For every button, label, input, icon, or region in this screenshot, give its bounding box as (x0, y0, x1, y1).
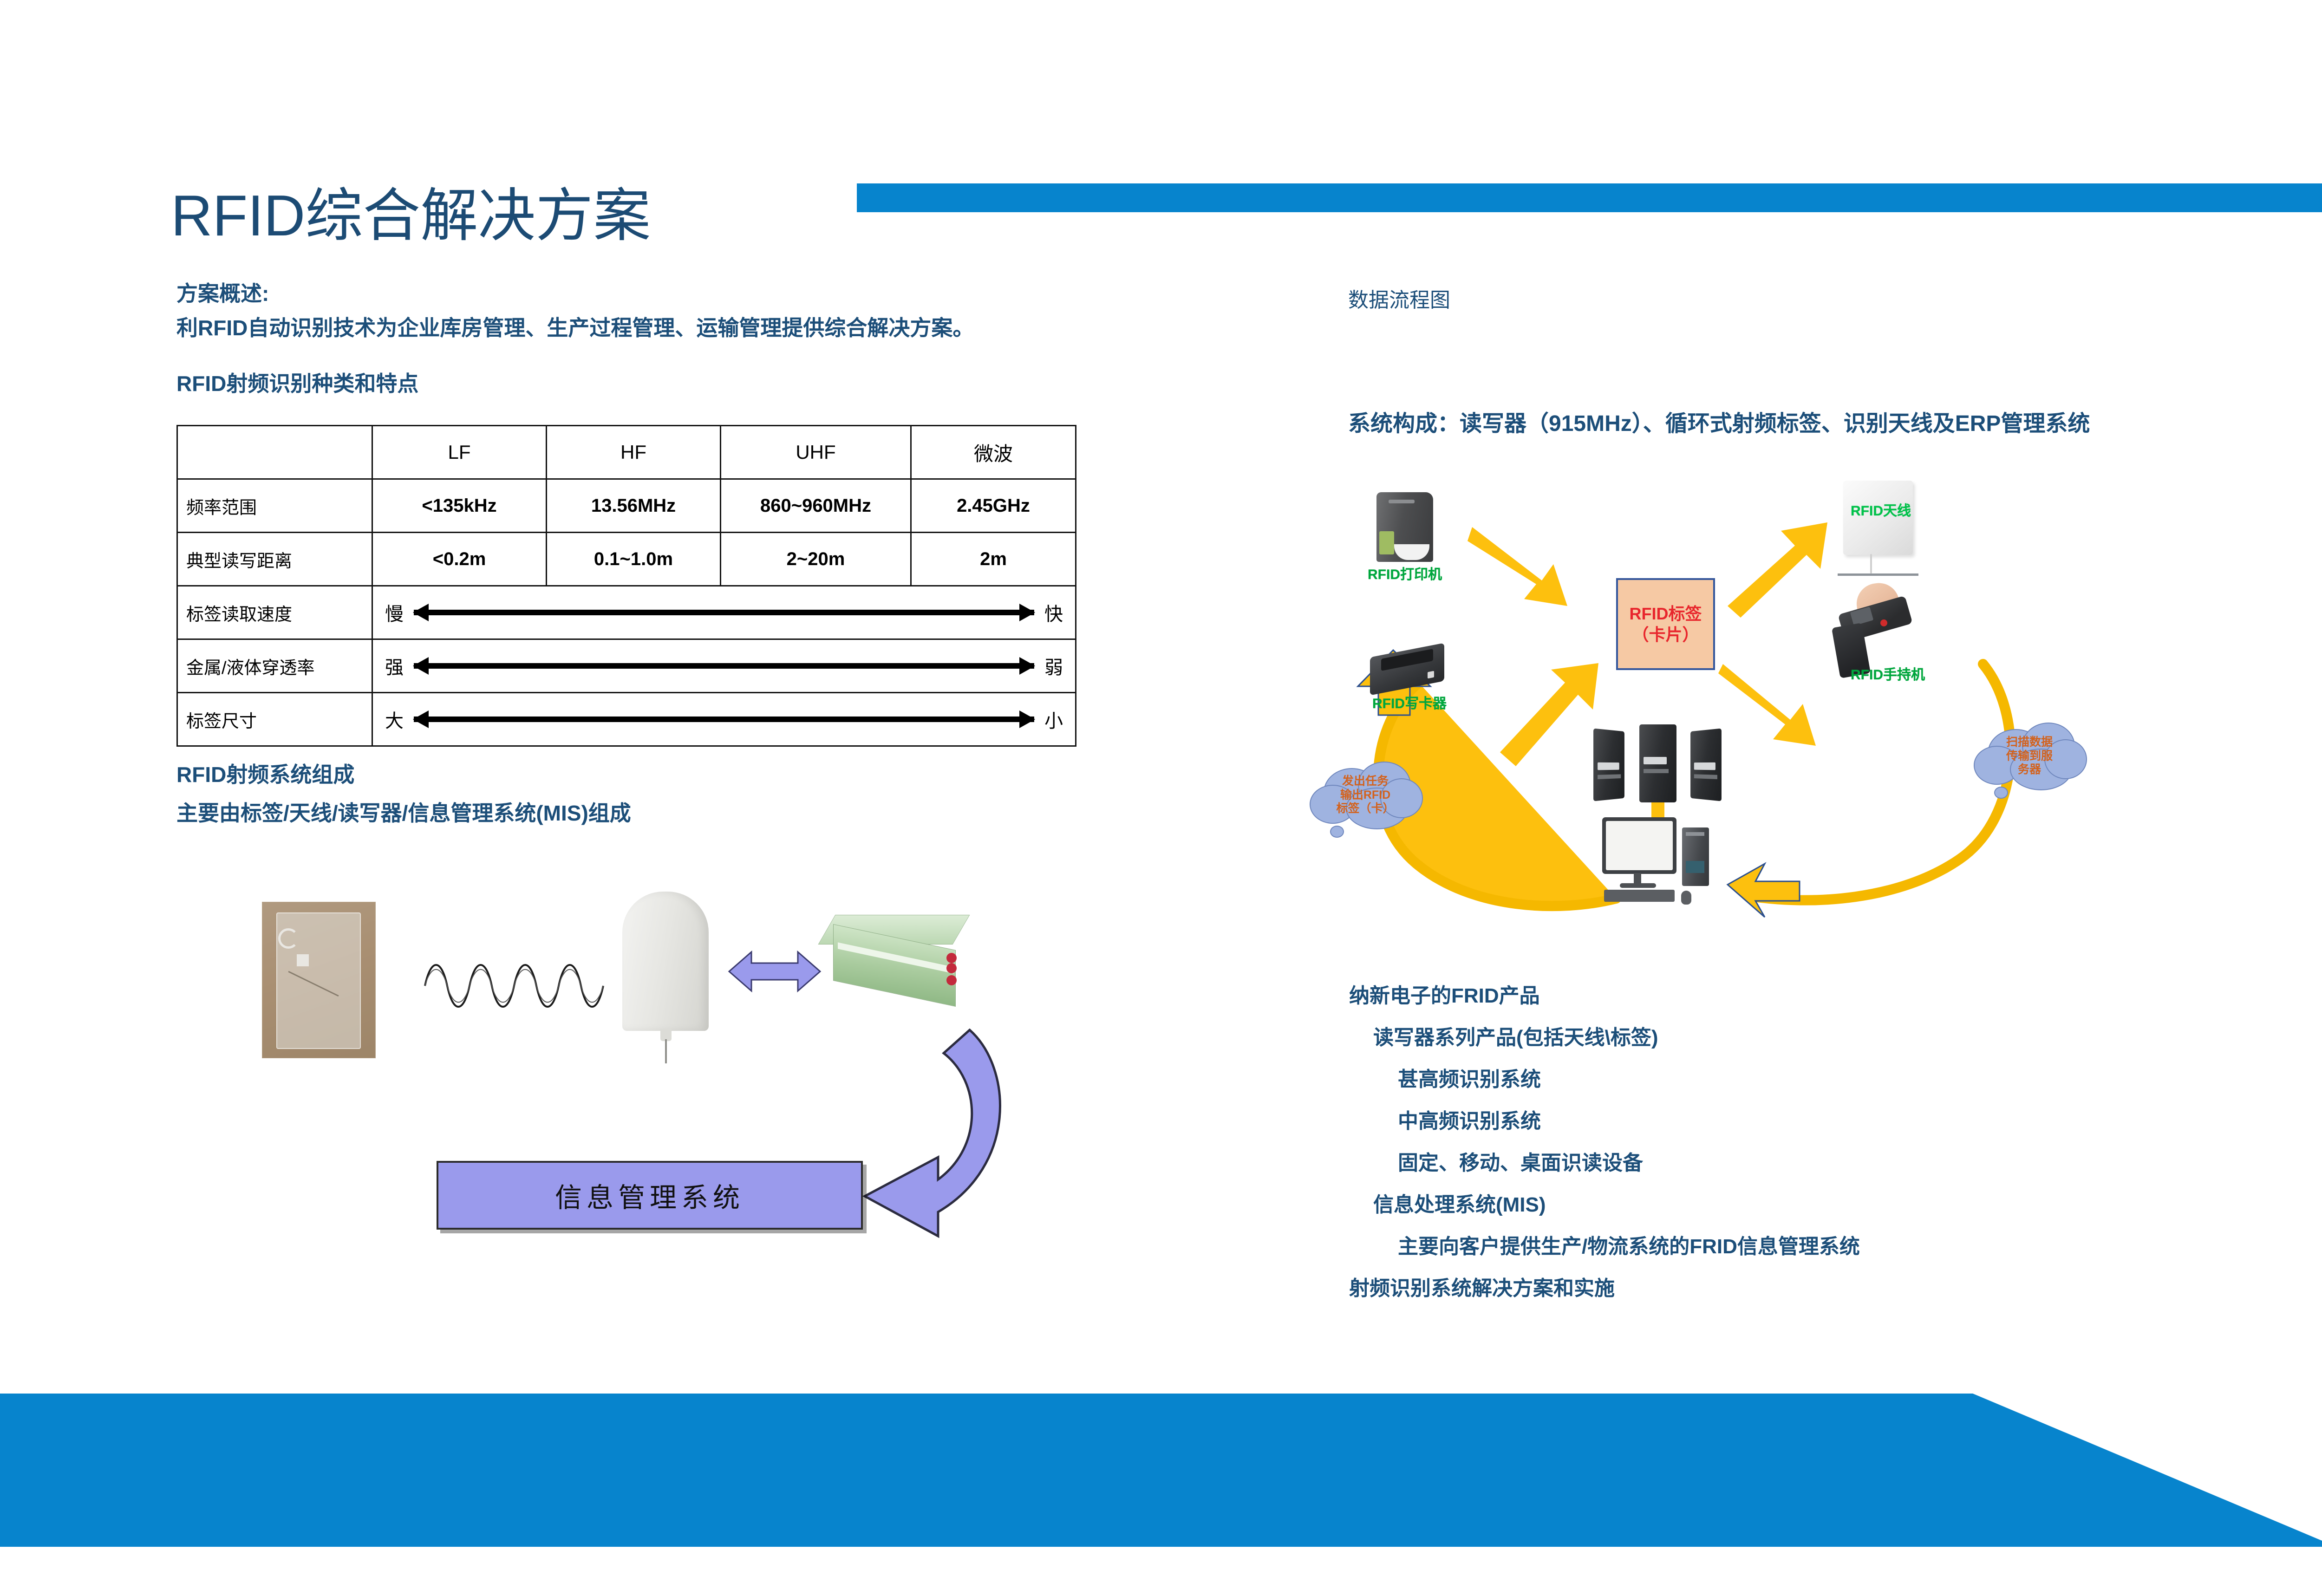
row-arrow-read-speed: 慢 快 (372, 586, 1076, 639)
table-row: 金属/液体穿透率 强 弱 (177, 639, 1076, 693)
product-bullet-list: 纳新电子的FRID产品 读写器系列产品(包括天线\标签) 甚高频识别系统 中高频… (1349, 979, 2162, 1313)
bullet-item: 纳新电子的FRID产品 (1349, 979, 2162, 1009)
printer-caption: RFID打印机 (1368, 563, 1442, 583)
handheld-caption: RFID手持机 (1851, 663, 1925, 684)
arrow-left-label-penetration: 强 (385, 652, 404, 679)
table-row: LF HF UHF 微波 (177, 426, 1076, 479)
row-label-distance: 典型读写距离 (177, 533, 372, 586)
rfid-card-writer: RFID写卡器 (1365, 636, 1454, 724)
bullet-item: 信息处理系统(MIS) (1373, 1188, 2162, 1218)
cell-frequency-microwave: 2.45GHz (911, 479, 1076, 533)
slide-canvas: RFID综合解决方案 方案概述: 利RFID自动识别技术为企业库房管理、生产过程… (0, 0, 2322, 1596)
cell-distance-uhf: 2~20m (721, 533, 911, 586)
table-header-hf: HF (547, 426, 721, 479)
cell-distance-lf: <0.2m (372, 533, 547, 586)
tag-box-line1: RFID标签 (1630, 603, 1702, 624)
table-row: 典型读写距离 <0.2m 0.1~1.0m 2~20m 2m (177, 533, 1076, 586)
server-cluster (1593, 724, 1723, 806)
tag-logo-icon (278, 928, 299, 949)
rfid-tag-box: RFID标签 （卡片） (1616, 578, 1715, 670)
bullet-item: 射频识别系统解决方案和实施 (1349, 1271, 2162, 1301)
rfid-antenna-photo (622, 892, 709, 1045)
arrow-right-label-speed: 快 (1044, 599, 1063, 626)
bidirectional-arrow-icon (729, 947, 820, 996)
cell-frequency-uhf: 860~960MHz (721, 479, 911, 533)
table-row: 标签读取速度 慢 快 (177, 586, 1076, 639)
table-header-lf: LF (372, 426, 547, 479)
table-corner-cell (177, 426, 372, 479)
cloud-callout-left: 发出任务 输出RFID 标签（卡） (1310, 762, 1421, 831)
mis-box-label: 信息管理系统 (555, 1176, 744, 1215)
arrow-tag-to-handheld-icon (1718, 659, 1844, 757)
desktop-workstation (1598, 817, 1718, 910)
cloud-callout-right: 扫描数据 传输到服 务器 (1974, 723, 2085, 792)
bullet-item: 中高频识别系统 (1398, 1104, 2162, 1134)
data-flow-diagram: RFID打印机 RFID写卡器 RFID标签 （卡片） RFID天线 (1319, 464, 2136, 957)
double-arrow-icon (414, 663, 1034, 669)
arrow-tag-to-antenna-icon (1718, 518, 1844, 611)
tag-chip-icon (297, 954, 309, 966)
page-title: RFID综合解决方案 (171, 186, 651, 247)
cell-frequency-lf: <135kHz (372, 479, 547, 533)
row-label-read-speed: 标签读取速度 (177, 586, 372, 639)
arrow-left-label-size: 大 (385, 706, 404, 733)
writer-caption: RFID写卡器 (1372, 692, 1447, 712)
table-header-uhf: UHF (721, 426, 911, 479)
rfid-tag-photo (262, 902, 376, 1058)
table-row: 标签尺寸 大 小 (177, 693, 1076, 746)
cloud-left-text: 发出任务 输出RFID 标签（卡） (1310, 775, 1421, 816)
row-label-penetration: 金属/液体穿透率 (177, 639, 372, 693)
system-compose-heading: RFID射频系统组成 (176, 758, 354, 788)
row-arrow-penetration: 强 弱 (372, 639, 1076, 693)
system-makeup-text: 系统构成：读写器（915MHz）、循环式射频标签、识别天线及ERP管理系统 (1348, 405, 2090, 437)
header-accent-bar (857, 183, 2322, 212)
system-parts-text: 主要由标签/天线/读写器/信息管理系统(MIS)组成 (176, 796, 631, 827)
antenna-caption: RFID天线 (1851, 499, 1911, 520)
bullet-item: 固定、移动、桌面识读设备 (1398, 1146, 2162, 1176)
mis-box: 信息管理系统 (437, 1161, 863, 1230)
cloud-right-text: 扫描数据 传输到服 务器 (1974, 736, 2085, 777)
tag-box-line2: （卡片） (1632, 624, 1699, 645)
double-arrow-icon (414, 610, 1034, 615)
footer-accent-band (0, 1394, 2322, 1547)
rfid-reader-photo (827, 915, 971, 1017)
bullet-item: 甚高频识别系统 (1398, 1062, 2162, 1092)
arrow-right-label-size: 小 (1044, 706, 1063, 733)
overview-label: 方案概述: (176, 277, 269, 307)
rfid-printer: RFID打印机 (1370, 492, 1440, 578)
overview-body: 利RFID自动识别技术为企业库房管理、生产过程管理、运输管理提供综合解决方案。 (176, 311, 974, 342)
bullet-item: 主要向客户提供生产/物流系统的FRID信息管理系统 (1398, 1230, 2162, 1259)
row-label-tag-size: 标签尺寸 (177, 693, 372, 746)
cell-frequency-hf: 13.56MHz (547, 479, 721, 533)
radio-wave-icon (423, 956, 608, 1016)
kinds-heading: RFID射频识别种类和特点 (176, 367, 418, 397)
arrow-right-label-penetration: 弱 (1044, 652, 1063, 679)
rfid-handheld: RFID手持机 (1832, 580, 1925, 690)
arrow-left-label-speed: 慢 (385, 599, 404, 626)
row-arrow-tag-size: 大 小 (372, 693, 1076, 746)
bullet-item: 读写器系列产品(包括天线\标签) (1373, 1021, 2162, 1050)
double-arrow-icon (414, 717, 1034, 722)
table-row: 频率范围 <135kHz 13.56MHz 860~960MHz 2.45GHz (177, 479, 1076, 533)
row-label-frequency: 频率范围 (177, 479, 372, 533)
cell-distance-hf: 0.1~1.0m (547, 533, 721, 586)
rfid-antenna: RFID天线 (1837, 481, 1925, 583)
table-header-microwave: 微波 (911, 426, 1076, 479)
data-flow-title: 数据流程图 (1348, 283, 1450, 313)
arrow-printer-to-tag-icon (1472, 520, 1607, 613)
cell-distance-microwave: 2m (911, 533, 1076, 586)
rfid-comparison-table: LF HF UHF 微波 频率范围 <135kHz 13.56MHz 860~9… (176, 425, 1076, 747)
